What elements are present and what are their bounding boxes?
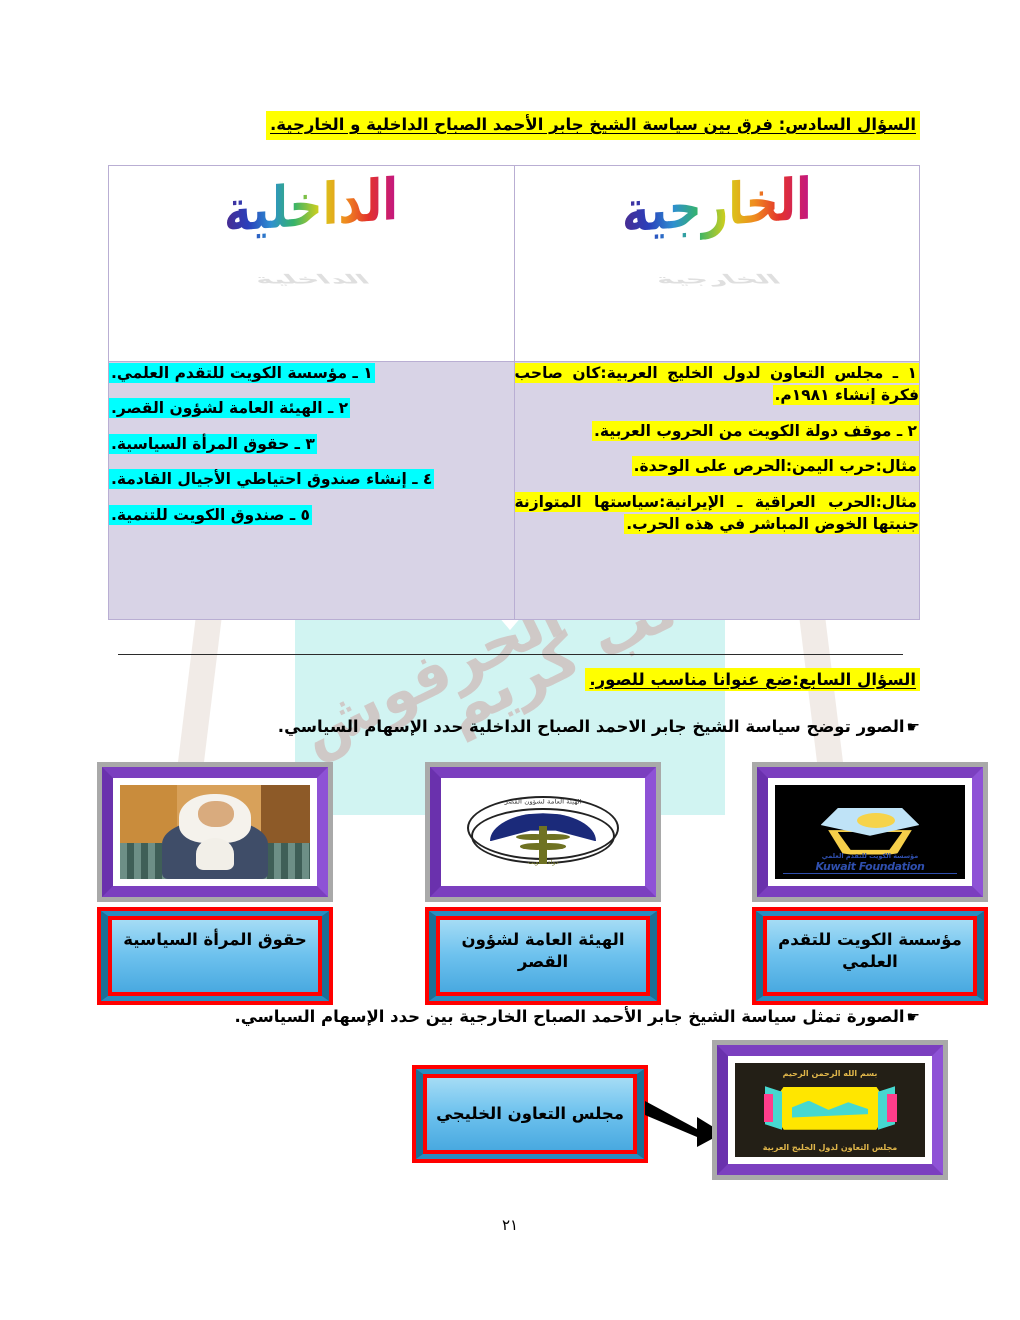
- external-policy-item-text: مثال:حرب اليمن:الحرص على الوحدة.: [632, 456, 919, 476]
- table-row-items: ١ ـ مجلس التعاون لدول الخليج العربية:كان…: [109, 362, 920, 620]
- internal-policy-item-text: ٣ ـ حقوق المرأة السياسية.: [109, 434, 317, 454]
- question-six-heading: السؤال السادس: فرق بين سياسة الشيخ جابر …: [266, 111, 920, 140]
- external-policy-items-cell: ١ ـ مجلس التعاون لدول الخليج العربية:كان…: [514, 362, 920, 620]
- logo-gulf-cooperation-council: بسم الله الرحمن الرحيم مجلس التعاون لدول…: [735, 1063, 925, 1157]
- caption-inner: حقوق المرأة السياسية: [112, 920, 318, 992]
- external-policy-item: مثال:الحرب العراقية ـ الإيرانية:سياستها …: [515, 491, 920, 536]
- frame-image-area: مؤسسة الكويت للتقدم العلمي Kuwait Founda…: [775, 785, 965, 879]
- bullet-external-text: الصورة تمثل سياسة الشيخ جابر الأحمد الصب…: [235, 1007, 905, 1026]
- photo-person-face: [198, 801, 234, 827]
- internal-policy-item-text: ٥ ـ صندوق الكويت للتنمية.: [109, 505, 312, 525]
- bullet-internal-text: الصور توضح سياسة الشيخ جابر الاحمد الصبا…: [278, 717, 905, 736]
- question-seven-heading: السؤال السابع:ضع عنوانا مناسب للصور.: [585, 668, 920, 691]
- frame-bevel: بسم الله الرحمن الرحيم مجلس التعاون لدول…: [717, 1045, 943, 1175]
- external-policy-wordart-shadow: الخارجية: [508, 272, 926, 287]
- logo-wheat-leaf: [532, 843, 566, 850]
- internal-policy-item: ٢ ـ الهيئة العامة لشؤون القصر.: [109, 397, 514, 419]
- picture-frame-gcc: بسم الله الرحمن الرحيم مجلس التعاون لدول…: [712, 1040, 948, 1180]
- caption-box-women-rights: حقوق المرأة السياسية: [97, 907, 333, 1005]
- caption-inner: مؤسسة الكويت للتقدم العلمي: [767, 920, 973, 992]
- internal-policy-item: ٤ ـ إنشاء صندوق احتياطي الأجيال القادمة.: [109, 468, 514, 490]
- photo-kuwaiti-woman: [120, 785, 310, 879]
- caption-inner: الهيئة العامة لشؤون القصر: [440, 920, 646, 992]
- internal-policy-wordart: الداخلية: [224, 165, 398, 245]
- caption-bevel: الهيئة العامة لشؤون القصر: [429, 911, 657, 1001]
- logo-gcc-pink-edge-left: [764, 1094, 774, 1122]
- internal-policy-wordart-shadow: الداخلية: [102, 272, 520, 287]
- logo-kfas-english-text: Kuwait Foundation: [783, 860, 958, 874]
- page-number: ٢١: [0, 1216, 1020, 1234]
- logo-minors-bottom-text: دولة الكويت: [448, 859, 638, 866]
- caption-text: مؤسسة الكويت للتقدم العلمي: [767, 929, 973, 974]
- frame-bevel: مؤسسة الكويت للتقدم العلمي Kuwait Founda…: [757, 767, 983, 897]
- frame-image-area: [120, 785, 310, 879]
- table-row-headers: الخارجية الخارجية الداخلية الداخلية: [109, 166, 920, 362]
- caption-text: حقوق المرأة السياسية: [123, 929, 306, 951]
- logo-gcc-pink-edge-right: [887, 1094, 897, 1122]
- policy-comparison-table: الخارجية الخارجية الداخلية الداخلية ١ ـ …: [108, 165, 920, 620]
- photo-person-collar: [196, 838, 234, 870]
- caption-box-minors-authority: الهيئة العامة لشؤون القصر: [425, 907, 661, 1005]
- internal-policy-item-text: ٤ ـ إنشاء صندوق احتياطي الأجيال القادمة.: [109, 469, 434, 489]
- external-policy-item-text: ٢ ـ موقف دولة الكويت من الحروب العربية.: [592, 421, 919, 441]
- frame-bevel: [102, 767, 328, 897]
- internal-policy-item-text: ١ ـ مؤسسة الكويت للتقدم العلمي.: [109, 363, 375, 383]
- external-policy-header-cell: الخارجية الخارجية: [514, 166, 920, 362]
- external-policy-item-text: ١ ـ مجلس التعاون لدول الخليج العربية:كان…: [515, 363, 920, 405]
- caption-box-gcc: مجلس التعاون الخليجي: [412, 1065, 648, 1163]
- bullet-line-internal: ☛الصور توضح سياسة الشيخ جابر الاحمد الصب…: [278, 717, 920, 736]
- external-policy-item: ١ ـ مجلس التعاون لدول الخليج العربية:كان…: [515, 362, 920, 407]
- logo-kuwait-foundation: مؤسسة الكويت للتقدم العلمي Kuwait Founda…: [775, 785, 965, 879]
- logo-sun-disc: [857, 813, 895, 828]
- picture-frame-minors-authority: الهيئة العامة لشؤون القصر دولة الكويت: [425, 762, 661, 902]
- frame-bevel: الهيئة العامة لشؤون القصر دولة الكويت: [430, 767, 656, 897]
- caption-bevel: مؤسسة الكويت للتقدم العلمي: [756, 911, 984, 1001]
- logo-gcc-hexagon: [769, 1087, 891, 1130]
- caption-box-kfas: مؤسسة الكويت للتقدم العلمي: [752, 907, 988, 1005]
- internal-policy-item: ٣ ـ حقوق المرأة السياسية.: [109, 433, 514, 455]
- pointing-hand-icon: ☛: [907, 1008, 920, 1026]
- logo-gcc-top-text: بسم الله الرحمن الرحيم: [735, 1069, 925, 1078]
- frame-image-area: بسم الله الرحمن الرحيم مجلس التعاون لدول…: [735, 1063, 925, 1157]
- bullet-line-external: ☛الصورة تمثل سياسة الشيخ جابر الأحمد الص…: [235, 1007, 920, 1026]
- frame-image-area: الهيئة العامة لشؤون القصر دولة الكويت: [448, 785, 638, 879]
- internal-policy-items-cell: ١ ـ مؤسسة الكويت للتقدم العلمي. ٢ ـ الهي…: [109, 362, 515, 620]
- section-divider: [118, 654, 903, 655]
- internal-policy-item-text: ٢ ـ الهيئة العامة لشؤون القصر.: [109, 398, 350, 418]
- internal-policy-item: ١ ـ مؤسسة الكويت للتقدم العلمي.: [109, 362, 514, 384]
- internal-policy-item: ٥ ـ صندوق الكويت للتنمية.: [109, 504, 514, 526]
- external-policy-item: ٢ ـ موقف دولة الكويت من الحروب العربية.: [515, 420, 920, 442]
- picture-frame-kfas: مؤسسة الكويت للتقدم العلمي Kuwait Founda…: [752, 762, 988, 902]
- caption-bevel: حقوق المرأة السياسية: [101, 911, 329, 1001]
- caption-bevel: مجلس التعاون الخليجي: [416, 1069, 644, 1159]
- logo-minors-affairs: الهيئة العامة لشؤون القصر دولة الكويت: [448, 785, 638, 879]
- logo-kfas-arabic-text: مؤسسة الكويت للتقدم العلمي: [783, 852, 958, 860]
- document-page: السؤال السادس: فرق بين سياسة الشيخ جابر …: [0, 0, 1020, 1320]
- external-policy-wordart: الخارجية: [622, 165, 812, 246]
- caption-text: مجلس التعاون الخليجي: [436, 1103, 624, 1125]
- logo-minors-top-text: الهيئة العامة لشؤون القصر: [448, 799, 638, 805]
- picture-frame-women-rights: [97, 762, 333, 902]
- internal-policy-header-cell: الداخلية الداخلية: [109, 166, 515, 362]
- external-policy-item: مثال:حرب اليمن:الحرص على الوحدة.: [515, 455, 920, 477]
- pointing-hand-icon: ☛: [907, 718, 920, 736]
- caption-inner: مجلس التعاون الخليجي: [427, 1078, 633, 1150]
- caption-text: الهيئة العامة لشؤون القصر: [440, 929, 646, 974]
- external-policy-item-text: مثال:الحرب العراقية ـ الإيرانية:سياستها …: [515, 492, 920, 534]
- logo-gcc-bottom-text: مجلس التعاون لدول الخليج العربية: [735, 1143, 925, 1152]
